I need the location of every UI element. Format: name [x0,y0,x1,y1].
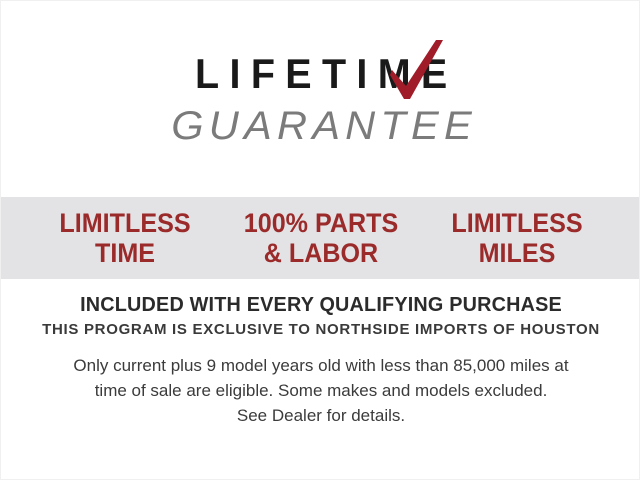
logo-block: LIFETIME GUARANTEE [1,53,640,157]
disclaimer: Only current plus 9 model years old with… [1,353,640,428]
headline: INCLUDED WITH EVERY QUALIFYING PURCHASE [4,293,638,317]
logo-primary-row: LIFETIME [1,53,640,99]
disclaimer-line: time of sale are eligible. Some makes an… [1,378,640,403]
feature-line-2: MILES [426,238,608,268]
subline: THIS PROGRAM IS EXCLUSIVE TO NORTHSIDE I… [1,320,640,339]
feature-column-limitless-miles: LIMITLESS MILES [426,208,608,268]
feature-line-1: LIMITLESS [426,208,608,238]
logo-primary-word: LIFETIME [185,53,458,95]
feature-column-parts-labor: 100% PARTS & LABOR [230,208,412,268]
disclaimer-line: Only current plus 9 model years old with… [1,353,640,378]
logo-secondary-word: GUARANTEE [166,105,477,147]
feature-line-2: TIME [34,238,216,268]
feature-line-1: 100% PARTS [230,208,412,238]
disclaimer-line: See Dealer for details. [1,403,640,428]
feature-column-limitless-time: LIMITLESS TIME [34,208,216,268]
feature-line-2: & LABOR [230,238,412,268]
feature-line-1: LIMITLESS [34,208,216,238]
feature-banner: LIMITLESS TIME 100% PARTS & LABOR LIMITL… [1,197,640,279]
lower-text-block: INCLUDED WITH EVERY QUALIFYING PURCHASE … [1,293,640,428]
logo-secondary-row: GUARANTEE [1,105,640,147]
lifetime-guarantee-ad: LIFETIME GUARANTEE LIMITLESS TIME 100% P… [0,0,640,480]
